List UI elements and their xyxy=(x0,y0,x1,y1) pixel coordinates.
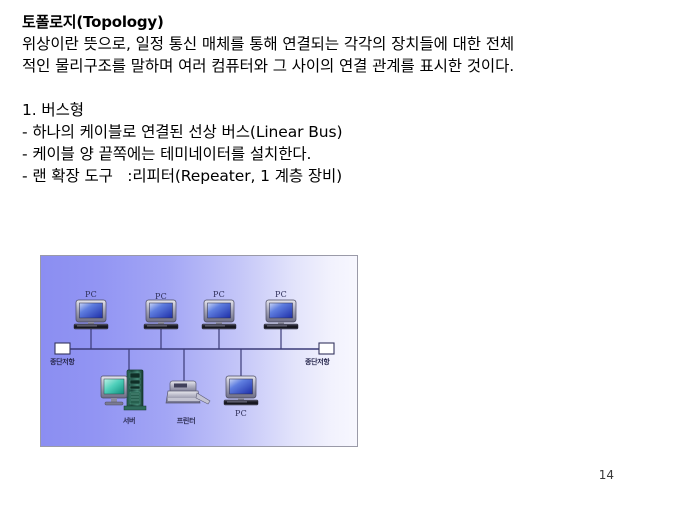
printer-label: 프린터 xyxy=(177,416,195,426)
terminator-right-icon xyxy=(319,343,334,354)
page-title: 토폴로지(Topology) xyxy=(22,12,662,33)
pc-label-5: PC xyxy=(235,409,247,418)
bus-topology-diagram: PC PC PC PC 종단저항 종단저항 서버 프린터 PC xyxy=(40,255,358,447)
intro-line-1: 위상이란 뜻으로, 일정 통신 매체를 통해 연결되는 각각의 장치들에 대한 … xyxy=(22,33,662,55)
section-heading: 1. 버스형 xyxy=(22,99,662,121)
pc-icon-2 xyxy=(144,300,178,329)
pc-icon-5 xyxy=(224,376,258,405)
pc-label-3: PC xyxy=(213,290,225,299)
bullet-item-2: - 케이블 양 끝쪽에는 테미네이터를 설치한다. xyxy=(22,143,662,165)
paragraph-spacer xyxy=(22,77,662,99)
page-number: 14 xyxy=(599,468,614,482)
terminator-left-icon xyxy=(55,343,70,354)
terminator-label-right: 종단저항 xyxy=(305,357,330,367)
server-label: 서버 xyxy=(123,416,135,426)
server-icon xyxy=(101,370,146,410)
pc-icon-4 xyxy=(264,300,298,329)
bullet-item-3: - 랜 확장 도구 :리피터(Repeater, 1 계층 장비) xyxy=(22,165,662,187)
pc-label-1: PC xyxy=(85,290,97,299)
terminator-label-left: 종단저항 xyxy=(50,357,75,367)
intro-line-2: 적인 물리구조를 말하며 여러 컴퓨터와 그 사이의 연결 관계를 표시한 것이… xyxy=(22,55,662,77)
pc-label-2: PC xyxy=(155,292,167,301)
pc-icon-3 xyxy=(202,300,236,329)
drop-lines-top xyxy=(91,328,281,349)
pc-icon-1 xyxy=(74,300,108,329)
pc-label-4: PC xyxy=(275,290,287,299)
slide-text-block: 토폴로지(Topology) 위상이란 뜻으로, 일정 통신 매체를 통해 연결… xyxy=(22,12,662,187)
printer-icon xyxy=(166,381,210,404)
bullet-item-1: - 하나의 케이블로 연결된 선상 버스(Linear Bus) xyxy=(22,121,662,143)
